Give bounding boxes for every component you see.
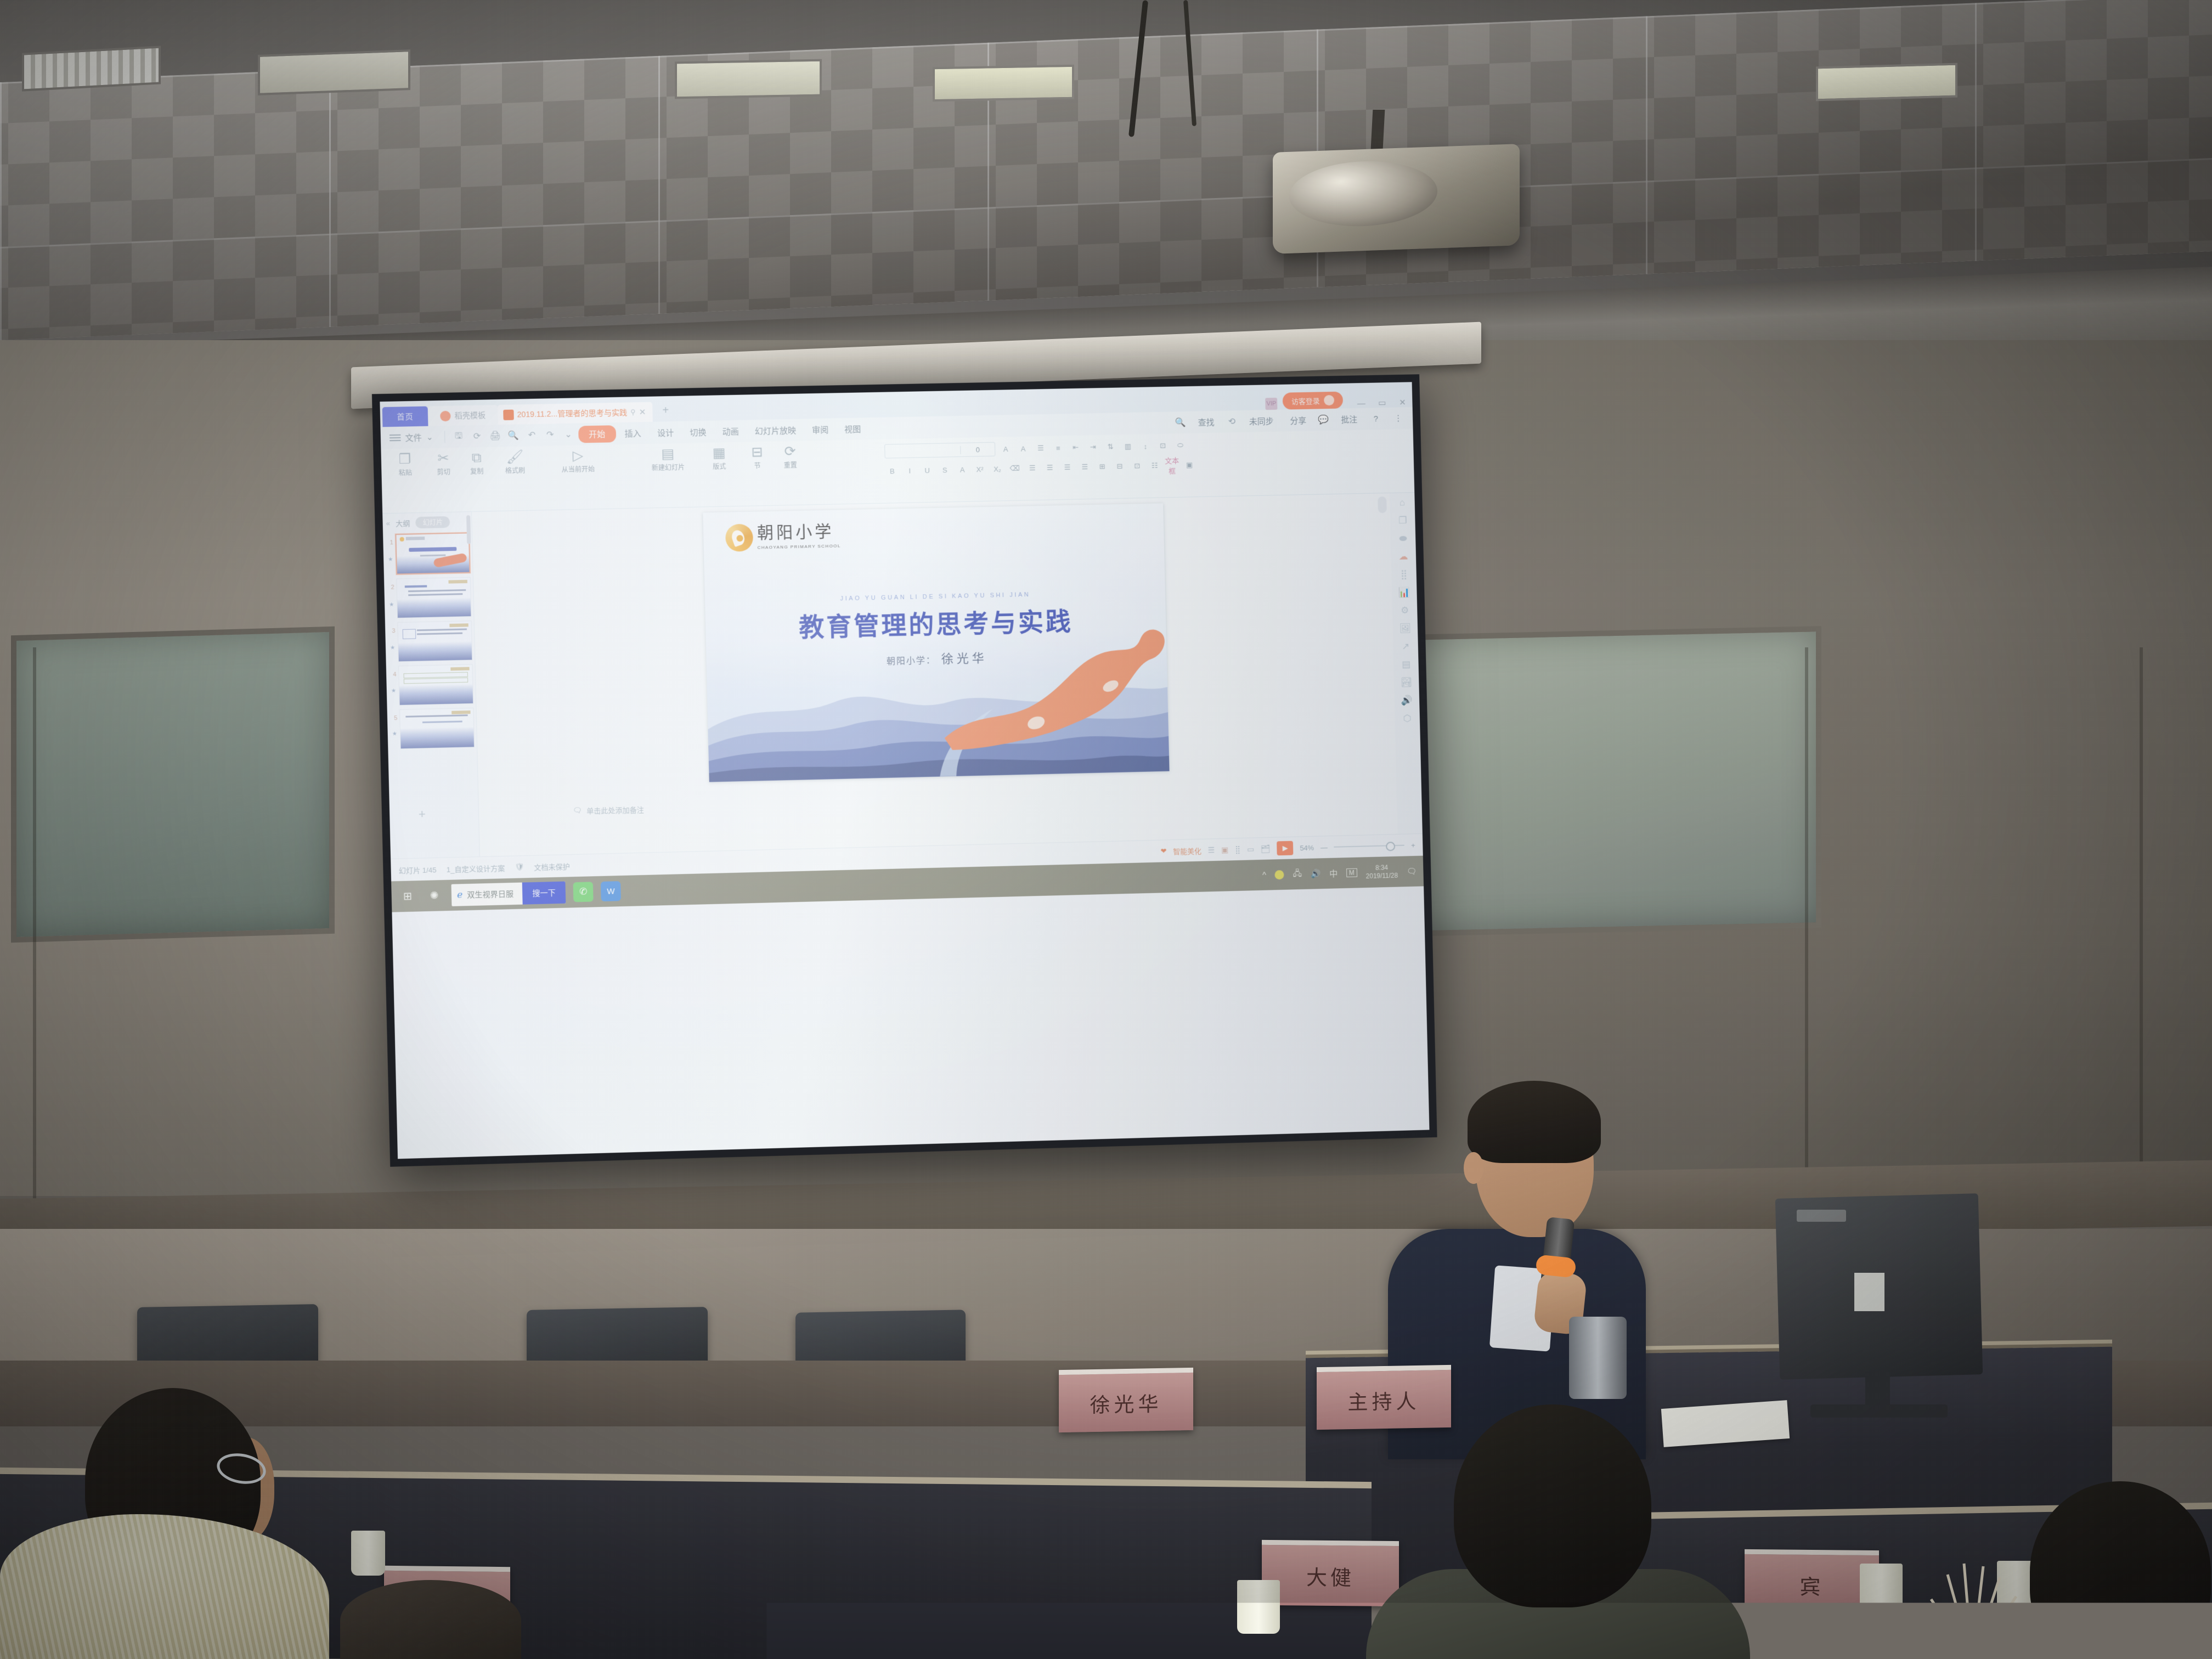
new-slide-icon: ▤ xyxy=(661,447,674,461)
beautify-label[interactable]: 智能美化 xyxy=(1173,845,1201,856)
paste-button[interactable]: ❐ 粘贴 xyxy=(387,452,424,478)
cut-label: 剪切 xyxy=(437,467,450,477)
normal-view-icon[interactable]: ▣ xyxy=(1221,845,1229,854)
comment-label[interactable]: 批注 xyxy=(1334,411,1364,427)
vip-badge[interactable]: VIP xyxy=(1265,398,1277,410)
tab-design[interactable]: 设计 xyxy=(650,424,681,441)
badge-icon[interactable]: ⬡ xyxy=(1403,713,1412,724)
slide-number: 5 xyxy=(390,709,398,721)
undo-icon[interactable]: ↶ xyxy=(523,428,540,443)
star-icon: ★ xyxy=(391,688,396,694)
star-icon: ★ xyxy=(388,556,393,562)
logo-chinese-name: 朝阳小学 xyxy=(757,523,834,543)
slide-thumbnail-5[interactable] xyxy=(399,708,475,749)
paste-icon: ❐ xyxy=(399,452,411,467)
editor-main-area: « 大纲 幻灯片 1 xyxy=(382,493,1423,859)
search-icon[interactable]: 🔍 xyxy=(1172,415,1189,430)
redo-icon[interactable]: ↷ xyxy=(541,427,558,442)
start-icon[interactable]: ⊞ xyxy=(398,887,417,906)
bold-button[interactable]: B xyxy=(885,467,899,476)
tab-animation[interactable]: 动画 xyxy=(715,423,746,439)
more-options-icon[interactable]: ⋮ xyxy=(1387,411,1409,426)
nameplate-presenter: 徐光华 xyxy=(1059,1368,1193,1432)
share-button[interactable]: 分享 xyxy=(1283,412,1313,428)
group-icon[interactable]: ⊡ xyxy=(1130,461,1144,470)
paper-cup xyxy=(1860,1564,1903,1617)
thumbnail-row[interactable]: 3 xyxy=(387,620,472,662)
line-spacing-icon[interactable]: ↕ xyxy=(1138,442,1153,450)
paper-cup xyxy=(351,1531,385,1576)
ime-icon[interactable]: 中 xyxy=(1329,867,1338,879)
thumbnail-row[interactable]: 4 xyxy=(388,664,473,706)
cloud-shape-icon[interactable]: ⬬ xyxy=(1399,533,1407,544)
notes-pane[interactable]: 🗨 单击此处添加备注 xyxy=(573,782,1364,820)
close-icon[interactable]: ✕ xyxy=(639,407,646,417)
thumbnail-row[interactable]: 1 xyxy=(385,532,470,575)
login-button[interactable]: 访客登录 xyxy=(1283,392,1344,410)
notes-placeholder: 单击此处添加备注 xyxy=(586,804,644,816)
copy-button[interactable]: ⧉ 复制 xyxy=(463,450,490,476)
presenter-hair xyxy=(1468,1081,1601,1163)
format-brush-label: 格式刷 xyxy=(505,466,526,476)
logo-mark-icon xyxy=(725,524,753,552)
tab-insert[interactable]: 插入 xyxy=(617,425,648,441)
wall-seam xyxy=(2140,647,2143,1201)
tab-review[interactable]: 审阅 xyxy=(805,421,836,438)
user-avatar-icon xyxy=(1324,395,1334,405)
tab-outline[interactable]: 大纲 xyxy=(396,517,410,528)
pptx-file-icon xyxy=(503,409,514,420)
system-tray: ^ 🖧 🔊 中 M 8:34 2019/11/28 🗨 xyxy=(1262,863,1417,883)
copy-label: 复制 xyxy=(470,466,484,476)
distribute-icon[interactable]: ⊞ xyxy=(1095,462,1109,471)
layout-label: 版式 xyxy=(713,461,726,471)
subscript-button[interactable]: X₂ xyxy=(990,465,1005,473)
format-brush-icon: 🖌 xyxy=(506,450,524,465)
monitor-logo xyxy=(1797,1210,1846,1222)
tab-document[interactable]: 2019.11.2...管理者的思考与实践 ⚲ ✕ xyxy=(498,402,653,425)
help-button[interactable]: ? xyxy=(1367,411,1386,426)
font-format-group: 0 A A ☰ ≡ ⇤ ⇥ ⇅ ▥ ↕ ⊡ ⬭ xyxy=(884,431,1408,481)
section-label: 节 xyxy=(754,461,760,470)
star-icon: ★ xyxy=(389,602,394,608)
start-from-current-button[interactable]: ▷ 从当前开始 xyxy=(548,448,609,475)
minimize-button[interactable]: — xyxy=(1351,399,1372,409)
audience-head-far-left xyxy=(340,1580,521,1659)
font-size-value[interactable]: 0 xyxy=(960,445,995,454)
cloud-sync-icon[interactable]: ⟳ xyxy=(469,429,486,444)
reset-icon: ⟳ xyxy=(784,444,796,459)
monitor-label-sticker xyxy=(1854,1273,1884,1311)
text-direction-icon[interactable]: ⇅ xyxy=(1103,442,1118,451)
tab-transition[interactable]: 切换 xyxy=(682,424,714,440)
ceiling-light-panel xyxy=(1816,63,1957,101)
ceiling-light-panel xyxy=(933,65,1074,102)
beautify-icon: ❤ xyxy=(1160,847,1166,855)
presenter-ear xyxy=(1464,1152,1483,1184)
font-family-select[interactable]: 0 xyxy=(884,442,995,459)
wps-presentation-window: 首页 稻壳模板 2019.11.2...管理者的思考与实践 ⚲ ✕ + VIP … xyxy=(380,382,1429,1159)
slide-canvas-area[interactable]: 朝阳小学 CHAOYANG PRIMARY SCHOOL JIAO YU GUA… xyxy=(472,493,1397,856)
orange-ribbon-artwork xyxy=(936,623,1169,754)
collapse-panel-icon[interactable]: « xyxy=(386,519,391,527)
file-menu-button[interactable]: 文件 ⌄ xyxy=(384,431,439,444)
columns-icon[interactable]: ▥ xyxy=(1121,442,1135,451)
thermos-cup xyxy=(1569,1317,1627,1399)
file-menu-label: 文件 xyxy=(405,432,422,444)
bullet-list-icon[interactable]: ☰ xyxy=(1034,444,1048,453)
slide-thumbnail-4[interactable] xyxy=(398,664,473,706)
strikethrough-button[interactable]: S xyxy=(938,466,952,475)
zoom-slider[interactable] xyxy=(1334,845,1405,848)
slide-number: 1 xyxy=(385,534,393,546)
shield-icon: 🛡 xyxy=(515,862,524,871)
star-icon: ★ xyxy=(390,645,395,651)
reset-label: 重置 xyxy=(783,460,797,470)
align-left-icon[interactable]: ☰ xyxy=(1025,464,1040,472)
reading-view-icon[interactable]: ▭ xyxy=(1247,844,1255,854)
clock-time: 8:34 xyxy=(1375,864,1388,871)
logo-english-name: CHAOYANG PRIMARY SCHOOL xyxy=(757,543,840,550)
notes-view-icon[interactable]: 🗂 xyxy=(1261,844,1271,853)
canvas-scrollbar[interactable] xyxy=(1378,496,1387,513)
text-box-button[interactable]: 文本框 xyxy=(1165,455,1180,476)
current-slide[interactable]: 朝阳小学 CHAOYANG PRIMARY SCHOOL JIAO YU GUA… xyxy=(703,503,1169,782)
search-button[interactable]: 搜一下 xyxy=(522,882,566,905)
text-box-icon[interactable]: ⊡ xyxy=(1156,441,1170,450)
tab-slides[interactable]: 幻灯片 xyxy=(415,516,450,528)
chart-icon[interactable]: 📊 xyxy=(1398,587,1410,598)
new-slide-label: 新建幻灯片 xyxy=(652,462,685,472)
cloud-art-icon[interactable]: ☁ xyxy=(1399,551,1408,562)
audience-head-center xyxy=(1454,1404,1651,1607)
search-input-value[interactable]: 双生视界日服 xyxy=(467,888,513,900)
zoom-in-button[interactable]: + xyxy=(1411,841,1415,849)
align-right-icon[interactable]: ☰ xyxy=(1060,463,1074,472)
monitor-base xyxy=(1810,1404,1948,1418)
nameplate-front-left: 大健 xyxy=(1262,1540,1399,1606)
underline-button[interactable]: U xyxy=(920,466,934,475)
school-logo: 朝阳小学 CHAOYANG PRIMARY SCHOOL xyxy=(725,522,840,551)
slide-sorter-icon[interactable]: ⣿ xyxy=(1235,845,1241,854)
play-slideshow-button[interactable]: ▶ xyxy=(1277,841,1293,856)
protection-status[interactable]: 文档未保护 xyxy=(534,861,570,872)
start-from-current-label: 从当前开始 xyxy=(561,464,595,474)
wall-seam xyxy=(1805,647,1808,1201)
layout-icon: ▦ xyxy=(713,445,726,460)
tab-view[interactable]: 视图 xyxy=(837,421,868,437)
feather-decoration xyxy=(1909,1553,2035,1659)
ceiling-projector xyxy=(1273,144,1520,254)
slide-number: 4 xyxy=(388,666,397,678)
ime-mode-icon[interactable]: M xyxy=(1346,868,1357,877)
section-icon: ⊟ xyxy=(751,445,763,459)
tray-chevron-icon[interactable]: ^ xyxy=(1262,870,1266,879)
tab-docer-label: 稻壳模板 xyxy=(454,410,486,421)
docer-icon xyxy=(440,410,451,421)
clock-date: 2019/11/28 xyxy=(1366,872,1398,880)
justify-icon[interactable]: ☰ xyxy=(1077,462,1092,471)
quick-style-icon[interactable]: ▣ xyxy=(1182,460,1197,469)
customize-caret-icon[interactable]: ⌄ xyxy=(560,427,577,442)
arrange-icon[interactable]: ☷ xyxy=(1147,461,1161,470)
star-icon: ★ xyxy=(392,731,397,737)
tab-document-label: 2019.11.2...管理者的思考与实践 xyxy=(517,407,627,420)
shrink-font-icon[interactable]: A xyxy=(1016,444,1030,453)
grow-font-icon[interactable]: A xyxy=(998,445,1013,453)
nameplate-front-right: 宾 xyxy=(1745,1549,1879,1616)
tab-start[interactable]: 开始 xyxy=(578,425,616,443)
wall-board-left xyxy=(11,627,335,943)
font-family-value xyxy=(885,450,960,452)
slide-thumbnail-2[interactable] xyxy=(396,577,471,618)
thumbnail-scrollbar[interactable] xyxy=(466,515,471,544)
thumbnail-row[interactable]: 2 xyxy=(386,577,471,619)
slide-number: 2 xyxy=(386,579,394,591)
text-layout-icon[interactable]: ☰ xyxy=(1208,845,1215,855)
grid-icon[interactable]: ⣿ xyxy=(1401,569,1408,580)
security-icon[interactable] xyxy=(1275,870,1284,879)
login-label: 访客登录 xyxy=(1291,395,1320,406)
ceiling-light-panel xyxy=(675,59,822,99)
table-icon[interactable]: ▤ xyxy=(1402,659,1410,670)
play-circle-icon: ▷ xyxy=(572,448,583,462)
clear-format-icon[interactable]: ⌫ xyxy=(1008,464,1022,473)
align-center-icon[interactable]: ☰ xyxy=(1042,463,1057,472)
projection-screen: 首页 稻壳模板 2019.11.2...管理者的思考与实践 ⚲ ✕ + VIP … xyxy=(372,374,1437,1167)
save-icon[interactable]: 🖫 xyxy=(450,429,467,444)
new-slide-button[interactable]: ▤ 新建幻灯片 xyxy=(641,446,695,472)
export-icon[interactable]: ↗ xyxy=(1402,641,1410,652)
format-brush-button[interactable]: 🖌 格式刷 xyxy=(496,449,534,476)
section-button[interactable]: ⊟ 节 xyxy=(744,445,771,471)
font-color-button[interactable]: A xyxy=(955,465,969,474)
thumbnail-row[interactable]: 5 xyxy=(390,708,475,749)
pin-icon[interactable]: ⚲ xyxy=(630,408,636,416)
design-scheme-label[interactable]: 1_自定义设计方案 xyxy=(446,862,505,874)
superscript-button[interactable]: X² xyxy=(973,465,987,473)
tab-slideshow[interactable]: 幻灯片放映 xyxy=(747,422,803,439)
notes-icon: 🗨 xyxy=(573,806,582,815)
tab-docer-templates[interactable]: 稻壳模板 xyxy=(428,405,498,426)
add-slide-button[interactable]: + xyxy=(419,807,426,821)
pinwheel-icon[interactable]: ✺ xyxy=(425,886,444,905)
home-icon[interactable]: ⌂ xyxy=(1400,497,1406,508)
taskbar-clock[interactable]: 8:34 2019/11/28 xyxy=(1365,864,1398,881)
italic-button[interactable]: I xyxy=(902,466,917,475)
slide-thumbnail-1[interactable] xyxy=(395,532,470,574)
numbered-list-icon[interactable]: ≡ xyxy=(1051,444,1065,452)
maximize-button[interactable]: ▭ xyxy=(1372,398,1392,408)
layout-button[interactable]: ▦ 版式 xyxy=(701,445,737,471)
hamburger-icon xyxy=(390,435,401,441)
new-tab-button[interactable]: + xyxy=(652,400,679,422)
audience-head-right xyxy=(2030,1481,2211,1659)
window-close-button[interactable]: ✕ xyxy=(1392,397,1413,408)
copy-icon: ⧉ xyxy=(471,450,482,465)
sync-icon: ⟲ xyxy=(1223,414,1240,428)
byline-school: 朝阳小学： xyxy=(887,656,936,667)
wall-seam xyxy=(33,647,36,1201)
zoom-out-button[interactable]: — xyxy=(1321,843,1328,851)
shapes-icon[interactable]: ❐ xyxy=(1398,515,1407,526)
reset-button[interactable]: ⟳ 重置 xyxy=(777,444,804,470)
comment-icon[interactable]: 💬 xyxy=(1316,413,1332,427)
ceiling-light-panel xyxy=(22,46,161,91)
print-icon[interactable]: 🖨 xyxy=(487,428,504,443)
slide-counter: 幻灯片 1/45 xyxy=(399,864,437,876)
network-icon[interactable]: 🖧 xyxy=(1293,867,1302,881)
zoom-level[interactable]: 54% xyxy=(1300,843,1314,852)
align-objects-icon[interactable]: ⊟ xyxy=(1113,462,1127,471)
zoom-slider-knob[interactable] xyxy=(1386,842,1395,851)
slide-number: 3 xyxy=(387,622,396,634)
taskbar-search-box[interactable]: ℯ 双生视界日服 搜一下 xyxy=(451,882,566,906)
adjust-icon[interactable]: ⚙ xyxy=(1401,605,1409,616)
internet-explorer-icon: ℯ xyxy=(457,889,463,900)
paper-cup xyxy=(1237,1580,1280,1634)
tab-home[interactable]: 首页 xyxy=(382,407,428,427)
image-group-icon[interactable]: 🖼 xyxy=(1399,623,1411,634)
audio-icon[interactable]: 🔊 xyxy=(1401,695,1413,706)
decrease-indent-icon[interactable]: ⇤ xyxy=(1068,443,1082,452)
ceiling-light-panel xyxy=(258,49,410,95)
picture-icon[interactable]: 🏞 xyxy=(1401,677,1413,688)
volume-icon[interactable]: 🔊 xyxy=(1311,868,1321,878)
find-label[interactable]: 查找 xyxy=(1191,414,1222,430)
wechat-icon[interactable]: ✆ xyxy=(573,882,594,902)
paste-label: 粘贴 xyxy=(399,468,413,478)
slide-thumbnail-panel: « 大纲 幻灯片 1 xyxy=(382,512,480,859)
nameplate-host: 主持人 xyxy=(1317,1365,1451,1430)
cut-button[interactable]: ✂ 剪切 xyxy=(430,451,458,477)
wps-taskbar-icon[interactable]: W xyxy=(601,881,621,901)
slide-thumbnail-3[interactable] xyxy=(397,620,472,662)
notification-icon[interactable]: 🗨 xyxy=(1407,866,1417,876)
chevron-down-icon: ⌄ xyxy=(426,432,433,442)
scissors-icon: ✂ xyxy=(437,451,449,466)
increase-indent-icon[interactable]: ⇥ xyxy=(1086,443,1100,452)
shape-fill-icon[interactable]: ⬭ xyxy=(1173,441,1187,450)
print-preview-icon[interactable]: 🔍 xyxy=(505,428,522,443)
sync-status-label[interactable]: 未同步 xyxy=(1242,413,1281,429)
conference-room-photo: 首页 稻壳模板 2019.11.2...管理者的思考与实践 ⚲ ✕ + VIP … xyxy=(0,0,2212,1659)
